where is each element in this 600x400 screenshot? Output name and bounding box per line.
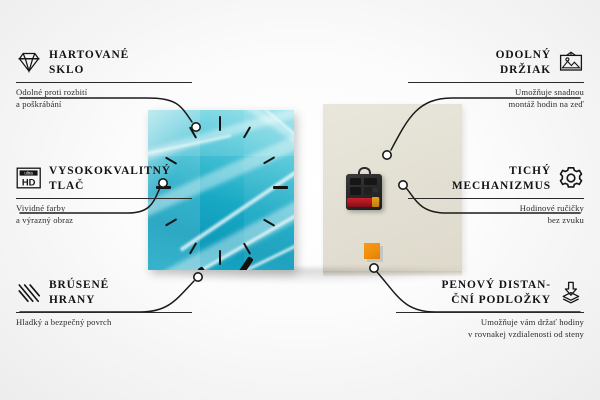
feature-ground-edges: BRÚSENÉ HRANY Hladký a bezpečný povrch [16,278,192,329]
clock-hour-hand [197,266,224,270]
feature-description: Hodinové ručičky bez zvuku [408,203,584,227]
battery-terminal [372,197,379,207]
feature-title: TICHÝ MECHANIZMUS [452,164,551,194]
feature-quiet-mechanism: TICHÝ MECHANIZMUS Hodinové ručičky bez z… [408,164,584,226]
divider [16,82,192,83]
feature-high-quality-print: ultra HD VYSOKOKVALITNÝ TLAČ Vividné far… [16,164,192,226]
feature-description: Hladký a bezpečný povrch [16,317,192,329]
feature-title: HARTOVANÉ SKLO [49,48,129,78]
svg-text:HD: HD [22,176,36,187]
ultra-hd-icon: ultra HD [16,165,42,191]
feature-description: Vividné farby a výrazný obraz [16,203,192,227]
gear-icon [558,165,584,191]
hour-tick [273,186,288,189]
feature-description: Odolné proti rozbití a poškrábání [16,87,192,111]
diamond-icon [16,49,42,75]
infographic-canvas: HARTOVANÉ SKLO Odolné proti rozbití a po… [0,0,600,400]
divider [408,82,584,83]
feature-description: Umožňuje snadnou montáž hodin na zeď [408,87,584,111]
feature-title: BRÚSENÉ HRANY [49,278,109,308]
feature-foam-spacers: PENOVÝ DISTAN- ČNÍ PODLOŽKY Umožňuje vám… [396,278,584,340]
feature-title: VYSOKOKVALITNÝ TLAČ [49,164,171,194]
picture-frame-icon [558,49,584,75]
svg-text:ultra: ultra [24,171,33,176]
divider [16,312,192,313]
feature-title: PENOVÝ DISTAN- ČNÍ PODLOŽKY [441,278,551,308]
feature-title: ODOLNÝ DRŽIAK [496,48,551,78]
divider [16,198,192,199]
feature-durable-holder: ODOLNÝ DRŽIAK Umožňuje snadnou montáž ho… [408,48,584,110]
feature-description: Umožňuje vám držať hodiny v rovnakej vzd… [396,317,584,341]
divider [408,198,584,199]
diagonal-lines-icon [16,279,42,305]
feature-tempered-glass: HARTOVANÉ SKLO Odolné proti rozbití a po… [16,48,192,110]
foam-spacer-pad [364,243,380,259]
arrow-into-layers-icon [558,279,584,305]
divider [396,312,584,313]
